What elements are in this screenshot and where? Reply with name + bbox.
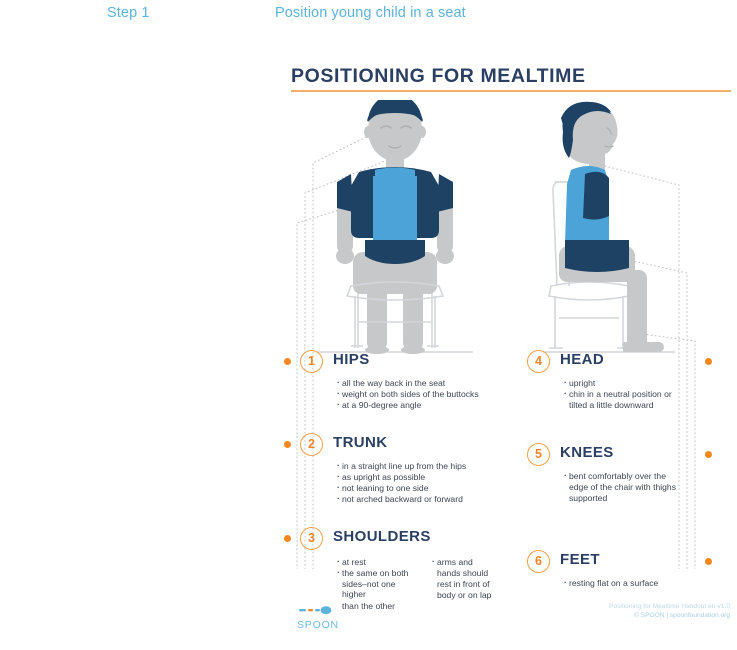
item-title-knees: KNEES [560, 444, 614, 461]
bullet-continuation: tilted a little downward [564, 400, 722, 411]
bullet: chin in a neutral position or [564, 389, 722, 400]
item-bullets-trunk: in a straight line up from the hips as u… [337, 461, 515, 505]
page-root: Step 1 Position young child in a seat PO… [0, 0, 737, 650]
bullet: resting flat on a surface [564, 578, 722, 589]
positioning-illustration [255, 100, 737, 390]
item-title-shoulders: SHOULDERS [333, 528, 431, 545]
footer-meta: Positioning for Mealtime Handout en-v1.0… [609, 603, 730, 620]
step-label: Step 1 [107, 5, 150, 21]
bullet-continuation: edge of the chair with thighs [564, 482, 722, 493]
shoulders-bullets-col1: at rest the same on both sides–not one h… [337, 557, 420, 612]
bullet-continuation: rest in front of [432, 579, 515, 590]
bullet: as upright as possible [337, 472, 515, 483]
bullet: weight on both sides of the buttocks [337, 389, 515, 400]
item-bullets-head: upright chin in a neutral position or ti… [564, 378, 722, 411]
item-bullets-hips: all the way back in the seat weight on b… [337, 378, 515, 411]
bullet-continuation: supported [564, 493, 722, 504]
bullet-continuation: body or on lap [432, 590, 515, 601]
step-description: Position young child in a seat [275, 5, 466, 21]
item-number-4: 4 [527, 350, 550, 373]
spoon-logo: SPOON [297, 602, 343, 631]
item-number-6: 6 [527, 550, 550, 573]
bullet: arms and [432, 557, 515, 568]
list-item-knees: 5 KNEES bent comfortably over the edge o… [527, 443, 722, 504]
bullet: all the way back in the seat [337, 378, 515, 389]
bullet: the same on both [337, 568, 420, 579]
bullet: upright [564, 378, 722, 389]
list-item-feet: 6 FEET resting flat on a surface [527, 550, 722, 589]
spoon-logo-text: SPOON [297, 619, 343, 631]
list-item-hips: 1 HIPS all the way back in the seat weig… [300, 350, 515, 411]
bullet: not leaning to one side [337, 483, 515, 494]
bullet-continuation: than the other [337, 601, 420, 612]
item-number-2: 2 [300, 433, 323, 456]
item-number-1: 1 [300, 350, 323, 373]
connector-dot-2 [284, 441, 291, 448]
bullet: in a straight line up from the hips [337, 461, 515, 472]
connector-dot-3 [284, 535, 291, 542]
connector-dot-1 [284, 358, 291, 365]
infographic-card: POSITIONING FOR MEALTIME [255, 45, 737, 635]
illustration-area [255, 100, 737, 390]
item-bullets-shoulders: at rest the same on both sides–not one h… [337, 555, 515, 612]
bullet: bent comfortably over the [564, 471, 722, 482]
item-title-trunk: TRUNK [333, 434, 388, 451]
footer-copyright-line: © SPOON | spoonfoundation.org [609, 612, 730, 621]
item-title-head: HEAD [560, 351, 604, 368]
bullet-continuation: hands should [432, 568, 515, 579]
item-title-feet: FEET [560, 551, 600, 568]
bullet: at rest [337, 557, 420, 568]
item-number-3: 3 [300, 527, 323, 550]
bullet-continuation: sides–not one higher [337, 579, 420, 600]
item-bullets-knees: bent comfortably over the edge of the ch… [564, 471, 722, 504]
item-number-5: 5 [527, 443, 550, 466]
spoon-logo-mark [297, 606, 343, 615]
list-item-head: 4 HEAD upright chin in a neutral positio… [527, 350, 722, 411]
list-item-shoulders: 3 SHOULDERS at rest the same on both sid… [300, 527, 515, 612]
front-view-figure [317, 100, 473, 354]
shoulders-bullets-col2: arms and hands should rest in front of b… [432, 557, 515, 612]
title-underline [291, 90, 731, 92]
side-view-figure [543, 102, 675, 352]
footer-document-line: Positioning for Mealtime Handout en-v1.0 [609, 603, 730, 612]
bullet: at a 90-degree angle [337, 400, 515, 411]
infographic-title: POSITIONING FOR MEALTIME [291, 65, 586, 88]
list-column-left: 1 HIPS all the way back in the seat weig… [300, 350, 515, 621]
item-title-hips: HIPS [333, 351, 370, 368]
item-bullets-feet: resting flat on a surface [564, 578, 722, 589]
bullet: not arched backward or forward [337, 494, 515, 505]
list-column-right: 4 HEAD upright chin in a neutral positio… [527, 350, 722, 597]
list-item-trunk: 2 TRUNK in a straight line up from the h… [300, 433, 515, 505]
